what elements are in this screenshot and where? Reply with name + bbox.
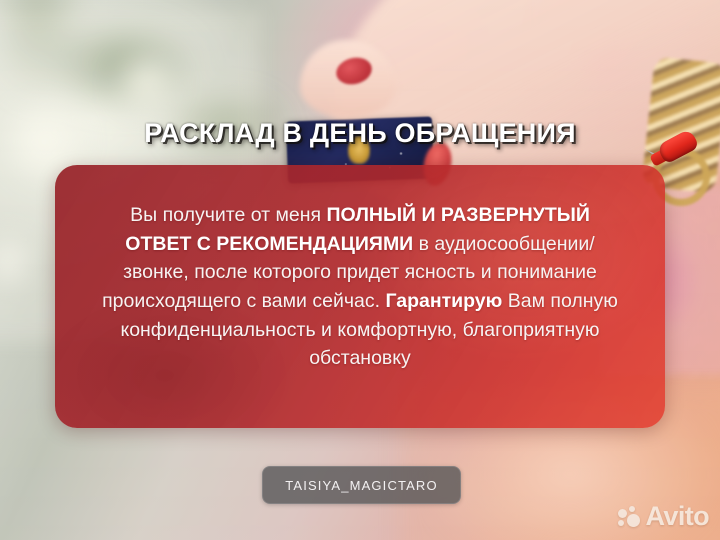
- offer-description-text: Вы получите от меня ПОЛНЫЙ И РАЗВЕРНУТЫЙ…: [55, 165, 665, 373]
- avito-wordmark: Avito: [646, 501, 710, 532]
- promo-image-canvas: РАСКЛАД В ДЕНЬ ОБРАЩЕНИЯ Вы получите от …: [0, 0, 720, 540]
- page-title: РАСКЛАД В ДЕНЬ ОБРАЩЕНИЯ: [0, 119, 720, 149]
- avito-watermark: Avito: [618, 501, 710, 532]
- avito-dots-icon: [618, 506, 642, 528]
- contact-handle-button[interactable]: TAISIYA_MAGICTARO: [262, 466, 461, 504]
- offer-description-panel: Вы получите от меня ПОЛНЫЙ И РАЗВЕРНУТЫЙ…: [55, 165, 665, 428]
- contact-handle-label: TAISIYA_MAGICTARO: [285, 478, 437, 493]
